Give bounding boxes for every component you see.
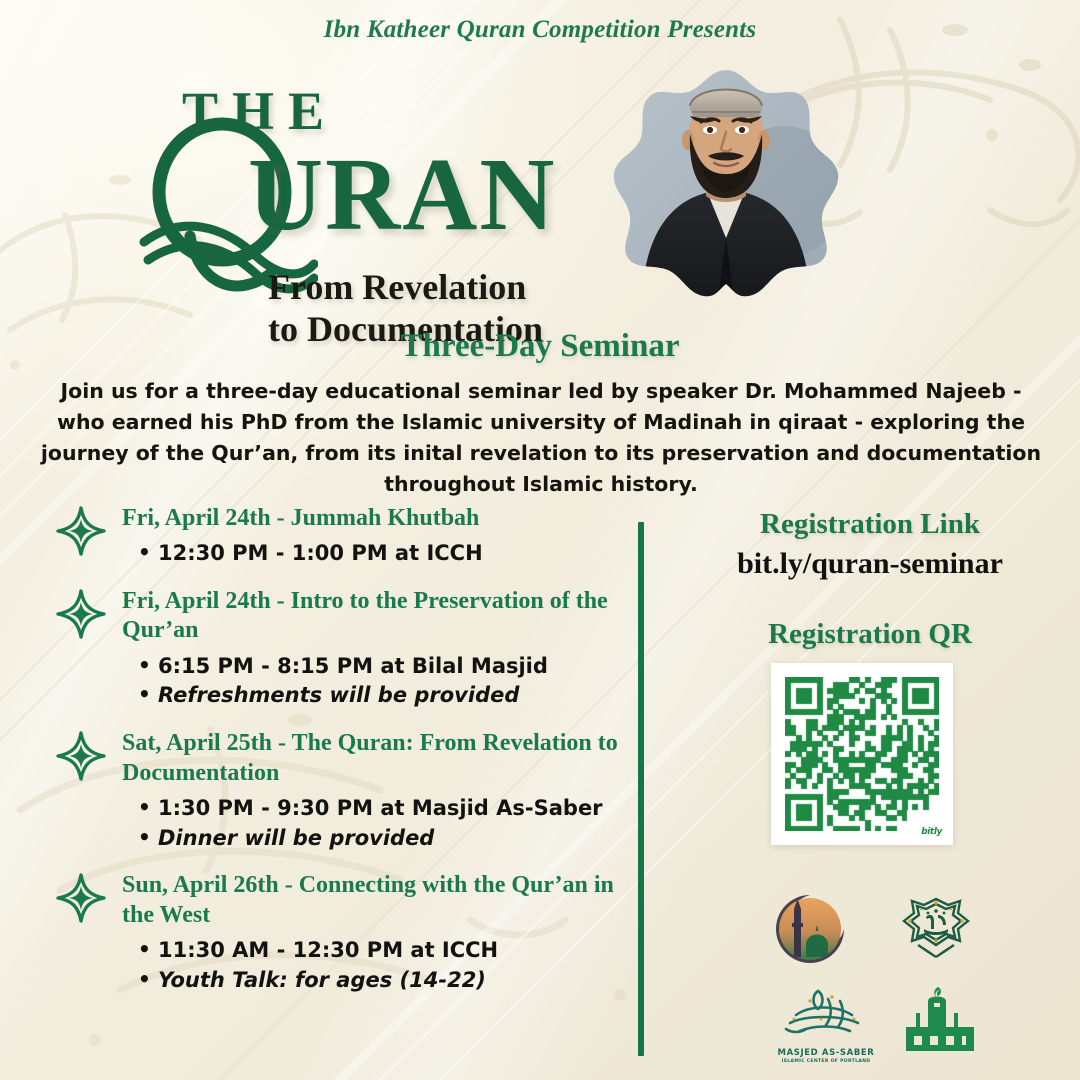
speaker-portrait xyxy=(604,62,848,314)
registration-qr-code[interactable]: bitly xyxy=(771,663,953,845)
masjid-kufic-logo xyxy=(894,983,986,1060)
schedule-event-heading: Fri, April 24th - Jummah Khutbah xyxy=(122,502,630,533)
registration-qr-heading: Registration QR xyxy=(660,618,1080,651)
schedule-detail-item: Youth Talk: for ages (14-22) xyxy=(138,966,630,996)
masjed-as-saber-logo: MASJED AS-SABER ISLAMIC CENTER OF PORTLA… xyxy=(766,985,886,1064)
intro-paragraph: Join us for a three-day educational semi… xyxy=(38,376,1044,501)
schedule-event-details: 6:15 PM - 8:15 PM at Bilal MasjidRefresh… xyxy=(50,652,630,712)
presenter-line: Ibn Katheer Quran Competition Presents xyxy=(0,16,1080,44)
schedule-event-heading: Sun, April 26th - Connecting with the Qu… xyxy=(122,869,630,930)
subtitle-line-1: From Revelation xyxy=(268,266,628,308)
schedule-event: Sun, April 26th - Connecting with the Qu… xyxy=(50,869,630,995)
schedule-event: Sat, April 25th - The Quran: From Revela… xyxy=(50,727,630,853)
schedule-list: Fri, April 24th - Jummah Khutbah12:30 PM… xyxy=(50,502,630,1000)
ibn-katheer-logo xyxy=(896,895,976,970)
schedule-event: Fri, April 24th - Jummah Khutbah12:30 PM… xyxy=(50,502,630,569)
schedule-event-details: 1:30 PM - 9:30 PM at Masjid As-SaberDinn… xyxy=(50,794,630,854)
four-point-star-icon xyxy=(56,873,106,923)
mosque-crescent-logo xyxy=(770,893,856,970)
poster-canvas: Ibn Katheer Quran Competition Presents T… xyxy=(0,0,1080,1080)
column-divider xyxy=(638,522,644,1056)
schedule-event-heading: Fri, April 24th - Intro to the Preservat… xyxy=(122,585,630,646)
schedule-detail-item: 1:30 PM - 9:30 PM at Masjid As-Saber xyxy=(138,794,630,824)
schedule-detail-item: 12:30 PM - 1:00 PM at ICCH xyxy=(138,539,630,569)
schedule-detail-item: 11:30 AM - 12:30 PM at ICCH xyxy=(138,936,630,966)
masjed-as-saber-caption-line2: ISLAMIC CENTER OF PORTLAND xyxy=(766,1059,886,1065)
seminar-heading: Three-Day Seminar xyxy=(0,328,1080,365)
schedule-detail-item: Refreshments will be provided xyxy=(138,681,630,711)
four-point-star-icon xyxy=(56,589,106,639)
schedule-detail-item: 6:15 PM - 8:15 PM at Bilal Masjid xyxy=(138,652,630,682)
title-block: THE URAN From Revelation to Documentatio… xyxy=(0,62,640,312)
qr-canvas xyxy=(785,677,939,831)
title-word-uran: URAN xyxy=(248,148,556,242)
masjed-as-saber-caption-line1: MASJED AS-SABER xyxy=(766,1048,886,1059)
bitly-watermark: bitly xyxy=(921,827,942,837)
schedule-detail-item: Dinner will be provided xyxy=(138,824,630,854)
registration-link-value[interactable]: bit.ly/quran-seminar xyxy=(660,547,1080,581)
schedule-event-heading: Sat, April 25th - The Quran: From Revela… xyxy=(122,727,630,788)
partner-logos: MASJED AS-SABER ISLAMIC CENTER OF PORTLA… xyxy=(766,893,992,1065)
schedule-event-details: 11:30 AM - 12:30 PM at ICCHYouth Talk: f… xyxy=(50,936,630,996)
schedule-event-details: 12:30 PM - 1:00 PM at ICCH xyxy=(50,539,630,569)
four-point-star-icon xyxy=(56,506,106,556)
registration-link-heading: Registration Link xyxy=(660,508,1080,541)
four-point-star-icon xyxy=(56,731,106,781)
schedule-event: Fri, April 24th - Intro to the Preservat… xyxy=(50,585,630,711)
